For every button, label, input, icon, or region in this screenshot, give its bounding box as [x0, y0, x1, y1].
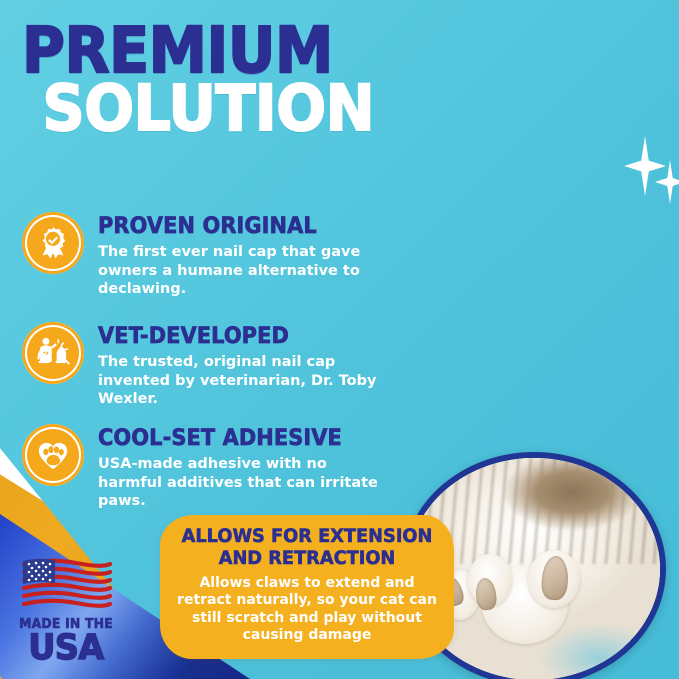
feature-description: USA-made adhesive with no harmful additi… — [98, 455, 380, 511]
product-marketing-image: PREMIUM SOLUTION PROVEN ORIGINAL The fir… — [0, 0, 679, 679]
feature-title: COOL-SET ADHESIVE — [98, 426, 366, 451]
feature-description: The trusted, original nail cap invented … — [98, 353, 394, 409]
award-ribbon-icon — [22, 212, 84, 274]
feature-title: PROVEN ORIGINAL — [98, 214, 362, 239]
callout-extension-retraction: ALLOWS FOR EXTENSION AND RETRACTION Allo… — [160, 515, 454, 659]
heart-paw-icon — [22, 424, 84, 486]
callout-title-line1: ALLOWS FOR EXTENSION — [181, 527, 433, 547]
callout-description: Allows claws to extend and retract natur… — [176, 575, 438, 645]
headline: PREMIUM SOLUTION — [22, 24, 401, 136]
made-in-usa-badge: MADE IN THE USA — [12, 556, 120, 666]
feature-vet-developed: VET-DEVELOPED The trusted, original nail… — [22, 322, 402, 409]
feature-title: VET-DEVELOPED — [98, 324, 379, 349]
headline-line-premium: PREMIUM — [22, 24, 374, 78]
feature-description: The first ever nail cap that gave owners… — [98, 243, 376, 299]
feature-proven-original: PROVEN ORIGINAL The first ever nail cap … — [22, 212, 382, 299]
headline-line-solution: SOLUTION — [22, 82, 374, 136]
usa-flag-icon — [20, 556, 112, 612]
vet-high-five-cat-icon — [22, 322, 84, 384]
callout-title-line2: AND RETRACTION — [181, 549, 433, 569]
usa-label: USA — [15, 632, 118, 666]
feature-cool-set-adhesive: COOL-SET ADHESIVE USA-made adhesive with… — [22, 424, 392, 511]
paw-glow — [539, 623, 659, 679]
